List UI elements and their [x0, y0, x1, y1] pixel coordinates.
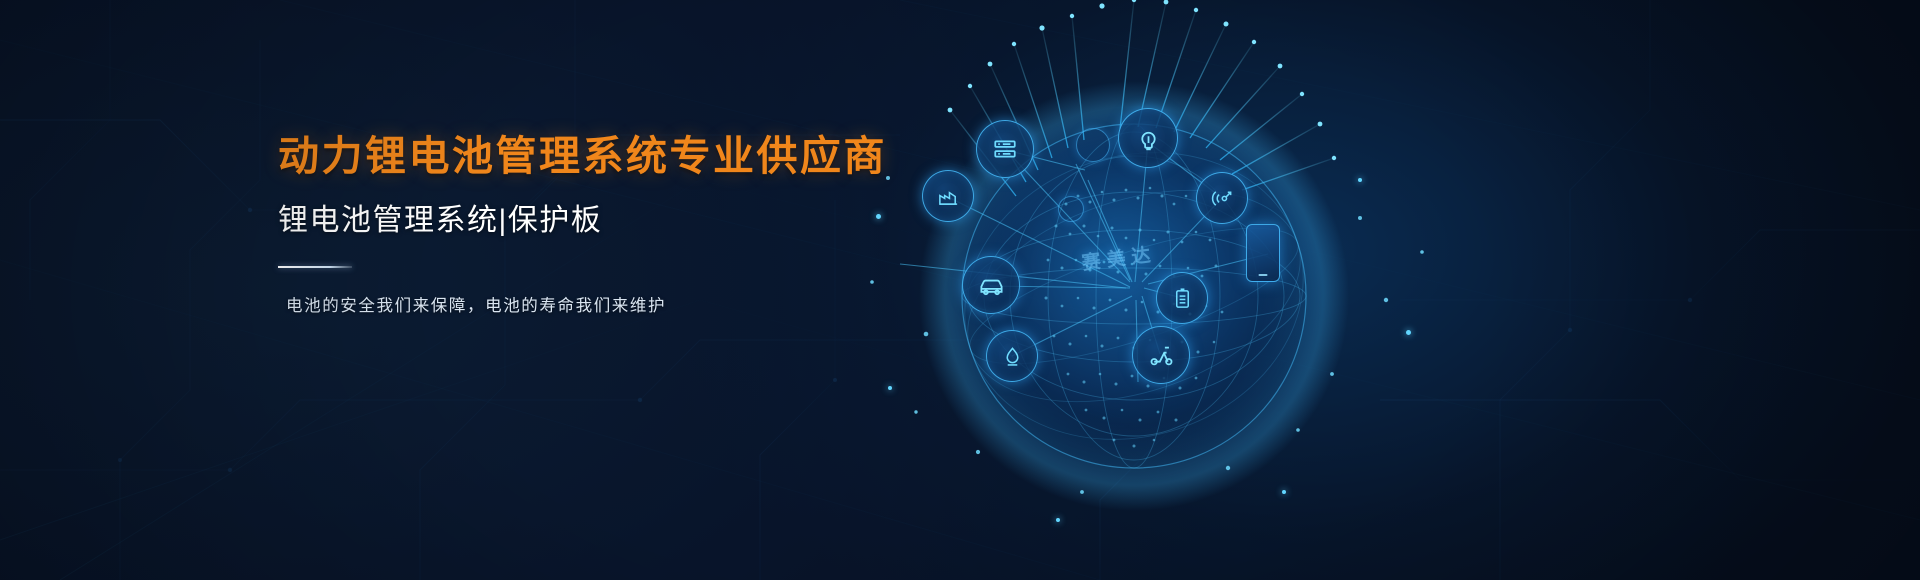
hero-subtitle: 锂电池管理系统|保护板 — [278, 202, 998, 240]
hero-tagline: 电池的安全我们来保障，电池的寿命我们来维护 — [286, 292, 998, 316]
page-title: 动力锂电池管理系统专业供应商 — [278, 132, 998, 181]
battery-icon — [1156, 272, 1208, 324]
oil-drop-icon — [986, 330, 1038, 382]
spark-dot — [1406, 330, 1411, 335]
ghost-ring-1 — [1076, 128, 1110, 162]
spark-dot — [1358, 178, 1362, 182]
title-divider — [278, 266, 352, 268]
hero-banner: 赛美达 — [0, 0, 1920, 580]
spark-dot — [1282, 490, 1286, 494]
satellite-icon — [1196, 172, 1248, 224]
hero-copy: 动力锂电池管理系统专业供应商 锂电池管理系统|保护板 电池的安全我们来保障，电池… — [278, 132, 998, 316]
spark-dot — [1056, 518, 1060, 522]
smartphone-icon — [1246, 224, 1280, 282]
ghost-ring-2 — [1058, 196, 1084, 222]
scooter-icon — [1132, 326, 1190, 384]
lightbulb-icon — [1118, 108, 1178, 168]
spark-dot — [888, 386, 892, 390]
